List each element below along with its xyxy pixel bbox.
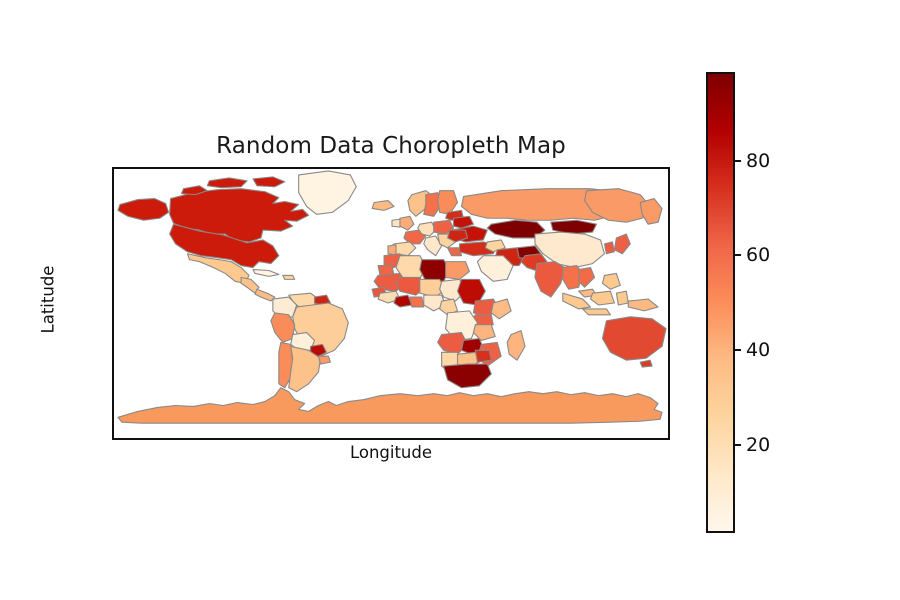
tick-mark	[735, 254, 741, 256]
colorbar-gradient	[708, 74, 733, 531]
region-india[interactable]	[535, 262, 565, 297]
colorbar-tick-label: 60	[746, 242, 770, 268]
region-alaska[interactable]	[118, 199, 169, 221]
tick-mark	[735, 349, 741, 351]
region-saudi-arabia[interactable]	[477, 256, 513, 282]
region-greenland[interactable]	[299, 171, 357, 214]
region-hispaniola[interactable]	[283, 275, 295, 279]
figure-canvas: Random Data Choropleth Map	[0, 0, 900, 600]
region-ivory-coast[interactable]	[394, 295, 412, 307]
region-australia[interactable]	[602, 317, 666, 360]
x-axis-label: Longitude	[112, 443, 670, 462]
region-madagascar[interactable]	[507, 331, 525, 361]
world-choropleth-svg[interactable]	[114, 169, 668, 438]
region-iceland[interactable]	[372, 201, 394, 211]
colorbar-tick-label: 20	[746, 432, 770, 458]
page-title: Random Data Choropleth Map	[112, 133, 670, 159]
region-philippines[interactable]	[602, 273, 620, 289]
tick-mark	[735, 444, 741, 446]
region-canada-arctic-2[interactable]	[253, 177, 285, 187]
region-tasmania[interactable]	[640, 360, 652, 367]
region-russia-kamchatka[interactable]	[640, 199, 662, 225]
region-korea[interactable]	[604, 242, 614, 254]
region-antarctica[interactable]	[118, 388, 662, 423]
colorbar-tick-label: 80	[746, 148, 770, 174]
region-egypt[interactable]	[446, 262, 470, 280]
colorbar[interactable]	[706, 72, 735, 533]
region-united-kingdom[interactable]	[400, 216, 414, 230]
region-vietnam[interactable]	[579, 268, 595, 288]
region-costa-rica-panama[interactable]	[255, 289, 275, 301]
region-finland[interactable]	[438, 191, 458, 215]
region-zimbabwe[interactable]	[475, 350, 491, 362]
region-ireland[interactable]	[392, 219, 400, 227]
tick-mark	[735, 160, 741, 162]
region-cuba[interactable]	[253, 270, 279, 277]
y-axis-label: Latitude	[39, 220, 58, 380]
map-regions	[118, 171, 668, 423]
region-indonesia-borneo[interactable]	[591, 291, 615, 305]
region-papua-new-guinea[interactable]	[628, 299, 658, 311]
region-japan[interactable]	[614, 234, 630, 254]
region-uruguay[interactable]	[319, 356, 331, 364]
region-indonesia-sulawesi[interactable]	[616, 291, 628, 305]
region-south-africa[interactable]	[444, 364, 492, 388]
region-portugal[interactable]	[388, 245, 396, 255]
map-axes[interactable]	[112, 167, 670, 440]
region-tanzania[interactable]	[473, 325, 495, 341]
region-ghana[interactable]	[410, 297, 424, 307]
region-canada-arctic-1[interactable]	[207, 178, 247, 188]
region-indonesia-java[interactable]	[583, 309, 611, 315]
colorbar-tick-label: 40	[746, 337, 770, 363]
